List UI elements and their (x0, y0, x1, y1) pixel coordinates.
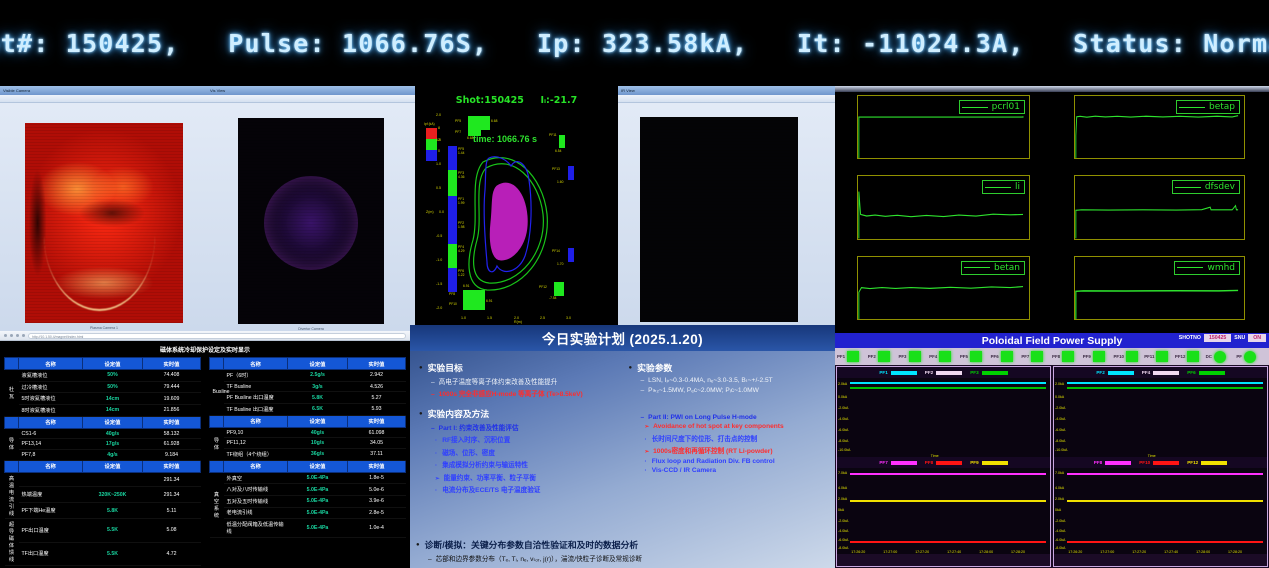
legend-swatch (1153, 371, 1179, 375)
pf-ytick: -4.0kA (1055, 529, 1065, 533)
table-row: 过冷槽液位 50% 79.444 (5, 381, 201, 393)
plan-part-label: Part I: 约束改善及性能评估 (431, 422, 619, 432)
window-title: Visible Camera (3, 88, 30, 93)
table-row: PF下端He温度 5.8K 5.11 (5, 503, 201, 519)
col-set: 设定值 (83, 358, 143, 370)
plasma-arc-outer (292, 118, 384, 324)
grayscale-plasma-image (640, 117, 798, 322)
plan-method-item: 集成模拟分析约束与输运特性 (435, 459, 619, 469)
plan-heading-diagnostics: 诊断/模拟：关键分布参数自洽性验证和及时的数据分析 (416, 538, 829, 551)
led-label: PF11 (1144, 354, 1154, 359)
pf-ytick: 2.0kA (1055, 497, 1064, 501)
row-actual: 5.27 (348, 392, 406, 404)
pf-ytick: -6.0kA (1055, 428, 1065, 432)
efit-flux-surfaces (421, 90, 618, 331)
row-actual: 74.408 (143, 370, 201, 382)
plasma-arc-lower (238, 204, 384, 324)
row-actual: 37.11 (348, 448, 406, 460)
row-name: 热端温度 (19, 487, 83, 503)
legend-swatch (936, 461, 962, 465)
pf-ytick: -4.0kA (1055, 417, 1065, 421)
plasma-arc-upper (640, 117, 798, 226)
row-name: PF9,10 (224, 427, 288, 438)
row-name: TF Busline 出口温度 (224, 403, 288, 415)
col-set: 设定值 (83, 416, 143, 428)
table-row: TF Busline 出口温度 6.5K 5.93 (210, 403, 406, 415)
table-row: 热端温度 320K~250K 291.34 (5, 487, 201, 503)
plan-pwi-item: Avoidance of hot spot at key components (645, 423, 829, 430)
pf-xtick: 17:28:20 (1228, 550, 1242, 554)
legend-entry: PF7 (879, 460, 916, 465)
row-actual: 61.928 (143, 439, 201, 450)
window-title: IR View (621, 88, 635, 93)
home-icon[interactable] (22, 334, 25, 337)
led-label: PF6 (991, 354, 999, 359)
pf-plot-bottom-left[interactable]: 7.0kA 4.0kA 2.0kA 0kA -2.0kA -4.0kA -6.0… (837, 468, 1050, 554)
table-row: TF Busline 3g/s 4.526 (210, 381, 406, 392)
group-label: 超导磁体馈线 (5, 519, 19, 566)
plan-method-item: RF接入时序、沉积位置 (435, 434, 619, 444)
chart-legend: betap (1176, 100, 1240, 114)
plan-part-label: Part II: PWI on Long Pulse H-mode (641, 414, 829, 421)
row-actual: 2.8e-5 (348, 507, 406, 519)
col-name: 名称 (224, 358, 288, 370)
table-header-row: 名称 设定值 实时值 (5, 416, 201, 428)
row-name: PF下端He温度 (19, 503, 83, 519)
col-actual: 实时值 (348, 415, 406, 427)
window-titlebar: Visible Camera (0, 86, 207, 95)
row-actual: 61.098 (348, 427, 406, 438)
pf-xtick: 17:26:20 (1068, 550, 1082, 554)
legend-swatch (982, 461, 1008, 465)
led-label: PF2 (868, 354, 876, 359)
pf-trace-pf7 (850, 473, 1046, 475)
plan-method-item: 电流分布及ECE/TS 电子温度验证 (435, 484, 619, 494)
legend-label: dfsdev (1205, 182, 1235, 192)
pf-ytick: -6.0kA (1055, 538, 1065, 542)
address-bar[interactable]: http://10.1.50.4/magnet/index.html (28, 333, 406, 339)
plot-area: 0.0 0.1 0.2 0.3 0.4 pcrl01 (857, 95, 1030, 159)
led-item-pf10[interactable]: PF10 (1113, 351, 1144, 362)
led-label: PF12 (1175, 354, 1186, 359)
group-label: 真空系统 (210, 472, 224, 537)
pf-plot-bottom-right[interactable]: 7.0kA 4.0kA 2.0kA 0kA -2.0kA -4.0kA -6.0… (1054, 468, 1267, 554)
status-led (1187, 351, 1199, 362)
status-led (909, 351, 921, 362)
led-label: PF7 (1021, 354, 1029, 359)
row-actual: 3.9e-6 (348, 495, 406, 507)
pf-ytick: 0kA (1055, 508, 1061, 512)
row-name: CS1-6 (19, 428, 83, 439)
row-actual: 5.08 (143, 519, 201, 542)
status-led (1156, 351, 1168, 362)
group-label: 导体 (5, 428, 19, 460)
plan-goal-item: 1000s 完全非感应H-mode 等离子体 (Te>8.5keV) (431, 388, 619, 398)
status-banner-text: Shot#: 150425, Pulse: 1066.76S, Ip: 323.… (0, 29, 1269, 58)
pf-trace-pf1 (850, 382, 1046, 384)
magnet-tables: 名称 设定值 实时值 杜瓦 液氦槽液位 50% 74.408 过冷槽液位 50%… (0, 357, 410, 566)
legend-label: PF4 (1142, 370, 1150, 375)
legend-swatch (1153, 461, 1179, 465)
pf-xtick: 17:28:00 (979, 550, 993, 554)
window-toolbar[interactable] (0, 95, 207, 103)
row-actual: 21.856 (143, 404, 201, 416)
led-label: PF5 (960, 354, 968, 359)
pf-ytick: 4.0kA (1055, 486, 1064, 490)
camera-panel-ir[interactable]: IR View Time: 2025-01-20 17:53:48 Mon Ja… (618, 86, 835, 331)
row-actual: 19.609 (143, 393, 201, 405)
group-label-cell (5, 416, 19, 428)
window-title: Vis View (210, 88, 225, 93)
row-name: TF出口温度 (19, 542, 83, 565)
pfps-meta: SHOTNO 150425 SNU ON (1179, 334, 1266, 342)
pf-waveform-charts: PF1 PF2 PF3 2.0kA 0.0kA -2.0kA -4.0kA -6… (835, 365, 1269, 568)
col-set: 设定值 (288, 358, 348, 370)
row-set: 5.8K (288, 392, 348, 404)
pf-ytick: -10.0kA (1055, 448, 1067, 452)
plan-heading-params: 实验参数 (629, 361, 829, 374)
plot-area: 0 1 2 3 betap (1074, 95, 1245, 159)
chart-betap[interactable]: 0 1 2 3 betap (1052, 92, 1269, 172)
col-actual: 实时值 (348, 460, 406, 472)
chart-betan[interactable]: 0.0 0.5 1.0 1.5 2.0 2.5 betan 0 200 400 … (835, 253, 1052, 333)
led-item-dc[interactable]: DC (1206, 351, 1237, 363)
table-row: 5时液氦槽液位 14cm 19.609 (5, 393, 201, 405)
table-row: 杜瓦 液氦槽液位 50% 74.408 (5, 370, 201, 382)
status-led (1126, 351, 1138, 362)
table-row: TF绕组（4个绕组） 36g/s 37.11 (210, 448, 406, 460)
pf-ytick: 0.0kA (838, 395, 847, 399)
col-set: 设定值 (83, 460, 143, 472)
legend-label: wmhd (1207, 263, 1235, 273)
plasma-core-glow (264, 176, 357, 271)
led-item-pf4[interactable]: PF4 (929, 351, 960, 362)
status-banner: Shot#: 150425, Pulse: 1066.76S, Ip: 323.… (0, 0, 1269, 86)
pf-power-supply-panel[interactable]: Poloidal Field Power Supply SHOTNO 15042… (835, 333, 1269, 568)
window-frame: Visible Camera Plasma Camera 1 (0, 86, 207, 331)
pf-ytick: 0.0kA (1055, 395, 1064, 399)
chart-legend: dfsdev (1172, 180, 1240, 194)
legend-entry: PF2 (925, 370, 962, 375)
chart-legend: pcrl01 (959, 100, 1025, 114)
legend-label: PF8 (1094, 460, 1102, 465)
pf-ytick: 7.0kA (838, 471, 847, 475)
legend-line (1179, 107, 1205, 108)
chart-dfsdev[interactable]: 0 2 4 6 dfsdev (1052, 172, 1269, 252)
row-actual: 1.8e-5 (348, 472, 406, 484)
pf-trace-pf6 (1067, 387, 1263, 389)
legend-label: PF1 (879, 370, 887, 375)
signal-chart-grid: 0.0 0.1 0.2 0.3 0.4 pcrl01 0 1 2 3 (835, 92, 1269, 333)
pf-ytick: 0kA (838, 508, 844, 512)
table-header-row: 名称 设定值 实时值 (5, 358, 201, 370)
legend-entry: PF6 (1187, 370, 1224, 375)
table-row: 老电流引线 5.0E-4Pa 2.8e-5 (210, 507, 406, 519)
table-busline: 名称 设定值 实时值 Busline PF（6时） 2.5g/s 2.942 T… (209, 357, 406, 538)
camera-panel-divertor[interactable]: Vis View Divertor Camera (207, 86, 415, 331)
pf-legend-top-left: PF1 PF2 PF3 (837, 367, 1050, 378)
legend-swatch (891, 371, 917, 375)
chart-legend: wmhd (1174, 261, 1240, 275)
plan-pwi-item: 1000s密度和再循环控制 (RT Li-powder) (645, 445, 829, 455)
pf-xtick: 17:27:00 (1100, 550, 1114, 554)
status-led (1001, 351, 1013, 362)
pf-ytick: -2.0kA (1055, 519, 1065, 523)
row-actual: 291.34 (143, 472, 201, 487)
row-actual: 58.132 (143, 428, 201, 439)
legend-entry: PF8 (1094, 460, 1131, 465)
table-header-row: 名称 设定值 实时值 (5, 460, 201, 472)
pf-plot-top-right[interactable]: 2.0kA 0.0kA -2.0kA -4.0kA -6.0kA -8.0kA … (1054, 378, 1267, 457)
row-name: TF绕组（4个绕组） (224, 448, 288, 460)
pf-ytick: -8.0kA (1055, 439, 1065, 443)
pf-chart-group-left[interactable]: PF1 PF2 PF3 2.0kA 0.0kA -2.0kA -4.0kA -6… (836, 366, 1051, 567)
row-name: 过冷槽液位 (19, 381, 83, 393)
row-name: 外真空 (224, 472, 288, 484)
led-item-pf[interactable]: PF (1236, 351, 1267, 363)
row-set: 2.5g/s (288, 370, 348, 382)
row-actual: 5.11 (143, 503, 201, 519)
row-name (19, 472, 83, 487)
table-row: 8时液氦槽液位 14cm 21.856 (5, 404, 201, 416)
window-frame: IR View Time: 2025-01-20 17:53:48 Mon Ja… (618, 86, 835, 331)
slide-footer-section: 诊断/模拟：关键分布参数自洽性验证和及时的数据分析 芯部和边界参数分布（Tₑ, … (416, 534, 829, 565)
legend-swatch (1201, 461, 1227, 465)
row-set: 5.0E-4Pa (288, 484, 348, 496)
table-row: PF Busline 出口温度 5.8K 5.27 (210, 392, 406, 404)
legend-label: PF2 (1096, 370, 1104, 375)
camera-image-area: Time: 2025-01-20 17:53:48 Mon Jan 20 202… (618, 103, 835, 331)
chart-wmhd[interactable]: 0.0 0.1 0.2 0.3 wmhd 0 200 400 600 800 1… (1052, 253, 1269, 333)
group-label-cell (5, 460, 19, 472)
legend-entry: PF3 (970, 370, 1007, 375)
row-actual: 1.0e-4 (348, 519, 406, 538)
row-actual: 5.93 (348, 403, 406, 415)
pf-xtick: 17:27:00 (883, 550, 897, 554)
led-label: PF1 (837, 354, 845, 359)
legend-swatch (1108, 371, 1134, 375)
pf-ytick: -4.0kA (838, 529, 848, 533)
pf-plot-top-left[interactable]: 2.0kA 0.0kA -2.0kA -4.0kA -6.0kA -8.0kA … (837, 378, 1050, 457)
pf-ytick: -8.0kA (1055, 546, 1065, 550)
status-led (1244, 351, 1256, 363)
led-item-pf8[interactable]: PF8 (1052, 351, 1083, 362)
led-item-pf6[interactable]: PF6 (991, 351, 1022, 362)
col-name: 名称 (19, 358, 83, 370)
row-actual: 2.942 (348, 370, 406, 382)
forward-icon[interactable] (10, 334, 13, 337)
legend-line (985, 187, 1011, 188)
snu-label: SNU (1234, 335, 1245, 341)
row-set: 50% (83, 370, 143, 382)
plasma-arc-outer (713, 125, 798, 313)
legend-line (1175, 187, 1201, 188)
row-set: 5.8K (83, 503, 143, 519)
led-label: PF4 (929, 354, 937, 359)
led-item-pf1[interactable]: PF1 (837, 351, 868, 362)
chart-li[interactable]: 0.6 0.8 1.0 1.2 1.4 li (835, 172, 1052, 252)
back-icon[interactable] (4, 334, 7, 337)
magnet-page-title: 磁体系统冷却保护设定及实时显示 (0, 341, 410, 357)
row-set: 50% (83, 381, 143, 393)
slide-title-bar: 今日实验计划 (2025.1.20) (410, 325, 835, 351)
pf-trace-pf2 (1067, 382, 1263, 384)
row-set: 5.0E-4Pa (288, 495, 348, 507)
legend-label: PF3 (970, 370, 978, 375)
row-set: 5.0E-4Pa (288, 519, 348, 538)
legend-swatch (936, 371, 962, 375)
led-item-pf2[interactable]: PF2 (868, 351, 899, 362)
pf-xaxis-label: Time (931, 454, 939, 457)
col-set: 设定值 (288, 415, 348, 427)
pfps-title: Poloidal Field Power Supply (982, 335, 1123, 347)
table-row: PF13,14 17g/s 61.928 (5, 439, 201, 450)
table-header-row: 名称 设定值 实时值 (210, 415, 406, 427)
legend-label: PF2 (925, 370, 933, 375)
table-row: 导体 PF9,10 40g/s 61.098 (210, 427, 406, 438)
row-name: 液氦槽液位 (19, 370, 83, 382)
magnet-cooling-panel[interactable]: http://10.1.50.4/magnet/index.html 磁体系统冷… (0, 331, 410, 568)
pf-ytick: -2.0kA (1055, 406, 1065, 410)
plasma-arc-lower (640, 209, 798, 322)
legend-entry: PF8 (925, 460, 962, 465)
plan-pwi-item: Flux loop and Radiation Div. FB control (645, 458, 829, 465)
plan-goal-item: 高电子温度等离子体约束改善及性能提升 (431, 376, 619, 386)
legend-entry: PF12 (1187, 460, 1227, 465)
row-set: 3g/s (288, 381, 348, 392)
pf-ytick: -8.0kA (838, 439, 848, 443)
window-toolbar[interactable] (618, 95, 835, 103)
camera-image-area: Divertor Camera (207, 103, 415, 331)
row-set: 5.0E-4Pa (288, 507, 348, 519)
camera-caption: Plasma Camera 1 (25, 326, 183, 330)
row-set: 40g/s (288, 427, 348, 438)
row-set (83, 472, 143, 487)
led-item-pf5[interactable]: PF5 (960, 351, 991, 362)
status-led (878, 351, 890, 362)
table-row: 超导磁体馈线 PF出口温度 5.5K 5.08 (5, 519, 201, 542)
plot-area: 0 2 4 6 dfsdev (1074, 175, 1245, 239)
plan-method-item: 能量约束、功率平衡、粒子平衡 (435, 472, 619, 482)
plot-area: 0.0 0.1 0.2 0.3 wmhd 0 200 400 600 800 1… (1074, 256, 1245, 320)
legend-label: li (1015, 182, 1020, 192)
group-label: 导体 (210, 427, 224, 460)
window-toolbar[interactable] (207, 95, 415, 103)
led-item-pf3[interactable]: PF3 (898, 351, 929, 362)
row-name: 5时液氦槽液位 (19, 393, 83, 405)
pf-xtick: 17:27:20 (1132, 550, 1146, 554)
slide-content: 实验目标 高电子温度等离子体约束改善及性能提升 1000s 完全非感应H-mod… (415, 353, 830, 564)
slide-title: 今日实验计划 (2025.1.20) (542, 328, 703, 348)
efit-equilibrium-panel[interactable]: Shot:150425 Iᵢ:-21.7 time: 1066.76 s Ipf… (415, 86, 618, 331)
pf-legend-top-right: PF2 PF4 PF6 (1054, 367, 1267, 378)
pf-trace-pf3 (850, 387, 1046, 389)
pf-chart-group-right[interactable]: PF2 PF4 PF6 2.0kA 0.0kA -2.0kA -4.0kA -6… (1053, 366, 1268, 567)
legend-label: PF7 (879, 460, 887, 465)
legend-entry: PF9 (970, 460, 1007, 465)
led-item-pf12[interactable]: PF12 (1175, 351, 1206, 362)
pf-trace-pf9 (850, 500, 1046, 502)
legend-swatch (982, 371, 1008, 375)
status-led (1093, 351, 1105, 362)
reload-icon[interactable] (16, 334, 19, 337)
row-set: 4g/s (83, 449, 143, 460)
chart-pcrl01[interactable]: 0.0 0.1 0.2 0.3 0.4 pcrl01 (835, 92, 1052, 172)
camera-panel-visible[interactable]: Visible Camera Plasma Camera 1 (0, 86, 207, 331)
pf-xtick: 17:27:40 (1164, 550, 1178, 554)
row-name: PF7,8 (19, 449, 83, 460)
window-titlebar: IR View (618, 86, 835, 95)
col-actual: 实时值 (143, 460, 201, 472)
row-name: 老电流引线 (224, 507, 288, 519)
legend-label: PF10 (1139, 460, 1150, 465)
table-row: 五对及五时传输线 5.0E-4Pa 3.9e-6 (210, 495, 406, 507)
led-item-pf11[interactable]: PF11 (1144, 351, 1175, 362)
legend-entry: PF2 (1096, 370, 1133, 375)
table-row: 导体 CS1-6 40g/s 58.132 (5, 428, 201, 439)
legend-label: PF9 (970, 460, 978, 465)
row-actual: 4.72 (143, 542, 201, 565)
legend-entry: PF4 (1142, 370, 1179, 375)
pf-ytick: -2.0kA (838, 406, 848, 410)
experiment-plan-slide[interactable]: 今日实验计划 (2025.1.20) 实验目标 高电子温度等离子体约束改善及性能… (410, 325, 835, 568)
pf-ytick: -10.0kA (838, 448, 850, 452)
legend-entry: PF1 (879, 370, 916, 375)
led-item-pf7[interactable]: PF7 (1021, 351, 1052, 362)
led-label: PF3 (898, 354, 906, 359)
row-actual: 34.05 (348, 438, 406, 449)
plan-param-item: Pₗₕ₂~1.5MW, Pₑᴄ~2.0MW; Pᵢᴄ~1.0MW (641, 386, 829, 394)
plan-diagnostics-sub: 芯部和边界参数分布（Tₑ, Tᵢ, nₑ, vₜₒᵣ, j(r)），湍流/快粒子… (428, 553, 829, 563)
pf-legend-bottom-right: PF8 PF10 PF12 (1054, 457, 1267, 468)
signal-charts-panel[interactable]: 0.0 0.1 0.2 0.3 0.4 pcrl01 0 1 2 3 (835, 86, 1269, 333)
col-name: 名称 (19, 460, 83, 472)
slide-column-left: 实验目标 高电子温度等离子体约束改善及性能提升 1000s 完全非感应H-mod… (415, 353, 621, 564)
led-item-pf9[interactable]: PF9 (1083, 351, 1114, 362)
browser-toolbar[interactable]: http://10.1.50.4/magnet/index.html (0, 331, 410, 341)
table-row: 真空系统 外真空 5.0E-4Pa 1.8e-5 (210, 472, 406, 484)
group-label: Busline (210, 370, 224, 415)
table-row: PF11,12 10g/s 34.05 (210, 438, 406, 449)
pf-ytick: -4.0kA (838, 417, 848, 421)
legend-label: betan (994, 263, 1020, 273)
plan-method-item: 磁场、位形、密度 (435, 447, 619, 457)
legend-swatch (1105, 461, 1131, 465)
plan-pwi-item: Vis-CCD / IR Camera (645, 467, 829, 474)
pf-ytick: 2.0kA (838, 497, 847, 501)
status-led (1031, 351, 1043, 362)
chart-legend: li (982, 180, 1025, 194)
led-label: PF9 (1083, 354, 1091, 359)
row-set: 320K~250K (83, 487, 143, 503)
row-actual: 5.0e-6 (348, 484, 406, 496)
group-label-cell (5, 358, 19, 370)
group-label: 杜瓦 (5, 370, 19, 416)
ir-plasma-image (25, 123, 183, 323)
pf-trace-pf8 (850, 541, 1046, 543)
row-set: 36g/s (288, 448, 348, 460)
row-set: 40g/s (83, 428, 143, 439)
plot-area: 0.6 0.8 1.0 1.2 1.4 li (857, 175, 1030, 239)
pf-trace-pf12 (1067, 500, 1263, 502)
row-actual: 291.34 (143, 487, 201, 503)
row-set: 5.0E-4Pa (288, 472, 348, 484)
row-set: 10g/s (288, 438, 348, 449)
row-name: 八对及八时传输线 (224, 484, 288, 496)
table-row: Busline PF（6时） 2.5g/s 2.942 (210, 370, 406, 382)
pf-xtick: 17:27:20 (915, 550, 929, 554)
row-actual: 9.184 (143, 449, 201, 460)
